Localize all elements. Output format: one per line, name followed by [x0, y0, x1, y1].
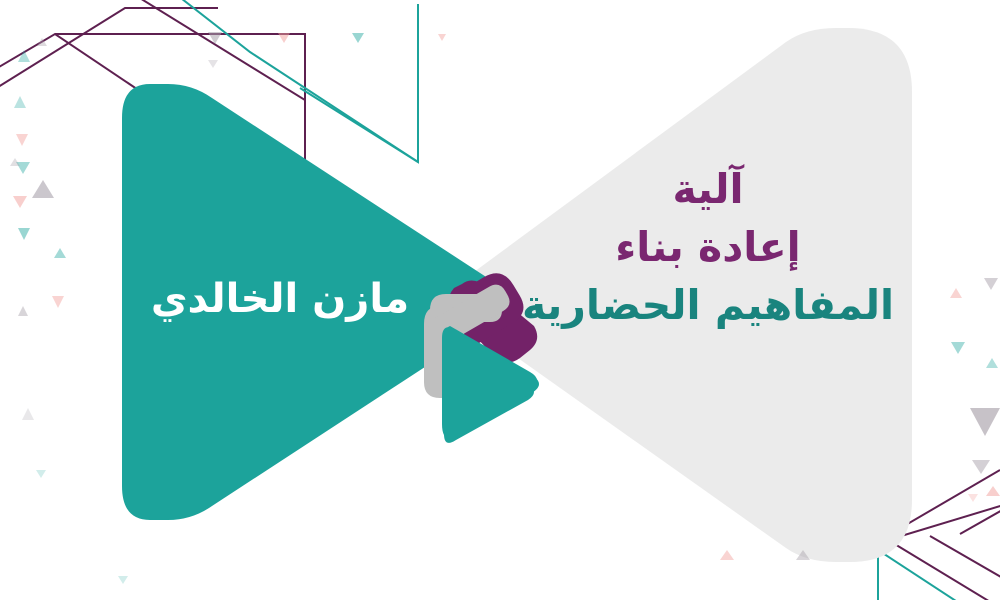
filled-triangle-teal	[18, 228, 30, 240]
filled-triangle-teal	[986, 358, 998, 368]
filled-triangle-teal	[54, 248, 66, 258]
cover-canvas: آلية إعادة بناء المفاهيم الحضارية مازن ا…	[0, 0, 1000, 600]
filled-triangle-teal	[951, 342, 965, 354]
scattered-triangle-decorations	[0, 0, 1000, 600]
filled-triangle-pink	[986, 486, 1000, 496]
filled-triangle-teal	[352, 33, 364, 43]
filled-triangle-teal	[14, 96, 26, 108]
filled-triangle-gray	[22, 408, 34, 420]
filled-triangle-gray	[972, 460, 990, 474]
filled-triangle-pink	[52, 296, 64, 308]
filled-triangle-pink	[278, 33, 290, 43]
filled-triangle-gray	[984, 278, 998, 290]
filled-triangle-gray	[970, 408, 1000, 436]
filled-triangle-gray	[18, 306, 28, 316]
filled-triangle-teal	[18, 50, 30, 62]
filled-triangle-pink	[16, 134, 28, 146]
filled-triangle-pink	[950, 288, 962, 298]
filled-triangle-pink	[438, 34, 446, 41]
filled-triangle-gray	[208, 32, 222, 44]
filled-triangle-gray	[37, 38, 47, 46]
filled-triangle-teal	[36, 470, 46, 478]
filled-triangle-gray	[208, 60, 218, 68]
filled-triangle-pink	[720, 550, 734, 560]
filled-triangle-pink	[13, 196, 27, 208]
filled-triangle-gray	[796, 550, 810, 560]
filled-triangle-pink	[968, 494, 978, 502]
filled-triangle-gray	[32, 180, 54, 198]
filled-triangle-teal	[118, 576, 128, 584]
